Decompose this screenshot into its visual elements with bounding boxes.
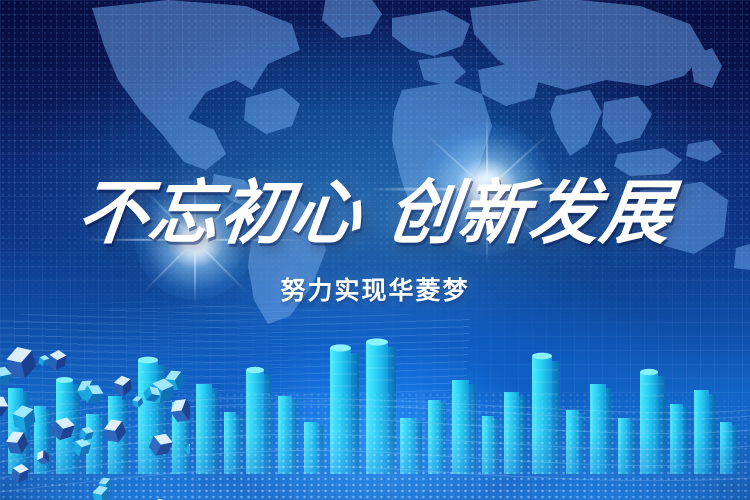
dotted-world-map — [0, 0, 750, 324]
headline-phrase-right: 创新发展 — [383, 174, 677, 252]
3d-city-skyline — [0, 326, 750, 500]
subtitle: 努力实现华菱梦 — [0, 277, 750, 305]
headline-phrase-left: 不忘初心 — [73, 174, 367, 252]
light-streaks-left — [0, 292, 435, 414]
floating-3d-cubes-right — [0, 330, 190, 500]
light-streaks-right — [0, 292, 470, 414]
banner-canvas: 不忘初心创新发展 努力实现华菱梦 — [0, 0, 750, 500]
floating-3d-cubes-left — [0, 330, 180, 500]
dotted-wave-terrain — [0, 392, 750, 500]
headline: 不忘初心创新发展 — [0, 176, 750, 250]
terrain-wave-contours — [0, 380, 750, 500]
